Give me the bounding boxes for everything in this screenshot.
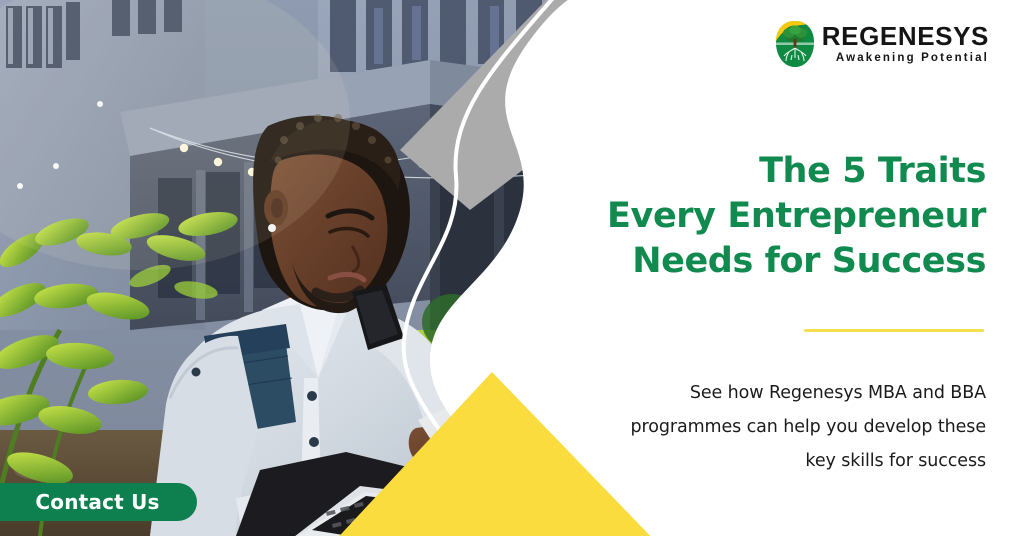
content-panel: REGENESYS Awakening Potential The 5 Trai…	[564, 0, 1024, 536]
headline-line-2: Every Entrepreneur	[586, 194, 986, 239]
promo-banner: REGENESYS Awakening Potential The 5 Trai…	[0, 0, 1024, 536]
regenesys-logo[interactable]: REGENESYS Awakening Potential	[775, 20, 989, 68]
hero-photo-illustration	[0, 0, 620, 536]
tree-shield-icon	[775, 20, 815, 68]
subtitle-line-2: programmes can help you develop these	[586, 410, 986, 444]
logo-name: REGENESYS	[822, 23, 989, 49]
headline-line-3: Needs for Success	[586, 239, 986, 284]
yellow-divider	[804, 329, 984, 332]
hero-photo	[0, 0, 620, 536]
subtitle-line-3: key skills for success	[586, 444, 986, 478]
headline-line-1: The 5 Traits	[586, 149, 986, 194]
logo-wordmark: REGENESYS Awakening Potential	[822, 23, 989, 65]
logo-tagline: Awakening Potential	[822, 53, 989, 65]
contact-us-button[interactable]: Contact Us	[0, 483, 197, 521]
subtitle-line-1: See how Regenesys MBA and BBA	[586, 376, 986, 410]
headline: The 5 Traits Every Entrepreneur Needs fo…	[586, 149, 986, 283]
subtitle: See how Regenesys MBA and BBA programmes…	[586, 376, 986, 478]
